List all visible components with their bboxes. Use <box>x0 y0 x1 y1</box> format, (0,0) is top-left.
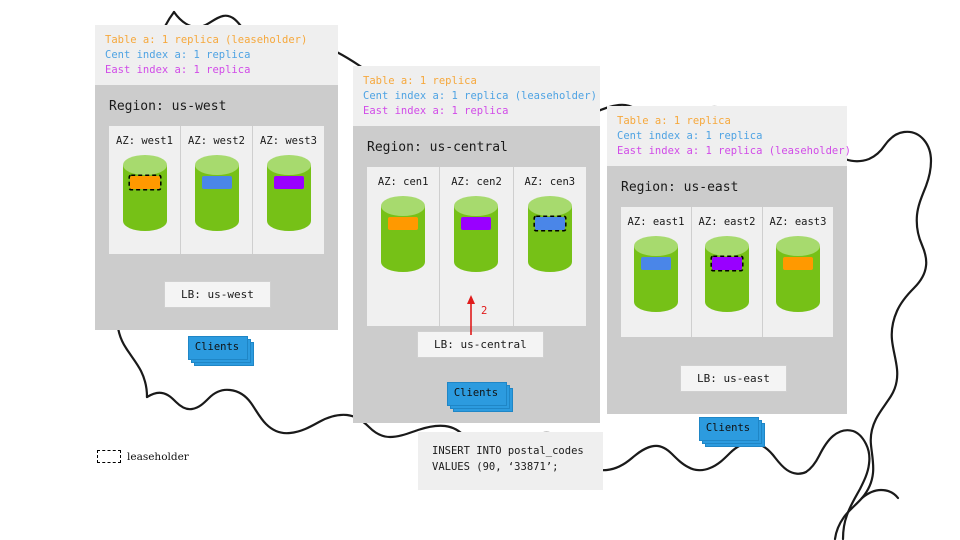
clients-label-us-west: Clients <box>188 336 246 358</box>
legend-leaseholder: leaseholder <box>97 450 189 463</box>
az-cell-east1[interactable]: AZ: east1 <box>621 207 692 337</box>
database-cylinder-east1[interactable] <box>633 235 679 313</box>
database-cylinder-east2[interactable] <box>704 235 750 313</box>
region-title-us-central: Region: us-central <box>353 126 600 167</box>
region-body-us-west: Region: us-west AZ: west1 AZ: west2 <box>95 85 338 330</box>
replica-line-cent: Cent index a: 1 replica (leaseholder) <box>363 89 590 104</box>
az-strip-us-west: AZ: west1 AZ: west2 <box>109 126 324 254</box>
az-cell-cen1[interactable]: AZ: cen1 <box>367 167 440 326</box>
region-title-us-west: Region: us-west <box>95 85 338 126</box>
az-label-east3: AZ: east3 <box>770 216 827 228</box>
clients-label-us-east: Clients <box>699 417 757 439</box>
replica-summary-us-east: Table a: 1 replica Cent index a: 1 repli… <box>607 106 847 166</box>
replica-line-table: Table a: 1 replica <box>617 114 837 129</box>
replica-line-cent: Cent index a: 1 replica <box>105 48 328 63</box>
load-balancer-us-central[interactable]: LB: us-central <box>417 331 544 358</box>
clients-us-west[interactable]: Clients <box>188 336 246 358</box>
legend-label: leaseholder <box>127 451 189 463</box>
region-panel-us-east: Table a: 1 replica Cent index a: 1 repli… <box>607 106 847 414</box>
database-cylinder-cen1[interactable] <box>380 195 426 273</box>
replica-summary-us-west: Table a: 1 replica (leaseholder) Cent in… <box>95 25 338 85</box>
az-label-cen1: AZ: cen1 <box>378 176 429 188</box>
az-cell-west1[interactable]: AZ: west1 <box>109 126 181 254</box>
region-body-us-central: Region: us-central AZ: cen1 AZ: cen2 <box>353 126 600 423</box>
sql-statement-box: INSERT INTO postal_codes VALUES (90, ‘33… <box>418 432 603 490</box>
az-cell-west3[interactable]: AZ: west3 <box>253 126 324 254</box>
database-cylinder-west1[interactable] <box>122 154 168 232</box>
az-label-cen2: AZ: cen2 <box>451 176 502 188</box>
clients-label-us-central: Clients <box>447 382 505 404</box>
replica-line-table: Table a: 1 replica (leaseholder) <box>105 33 328 48</box>
database-cylinder-cen2[interactable] <box>453 195 499 273</box>
az-cell-cen2[interactable]: AZ: cen2 <box>440 167 513 326</box>
az-cell-cen3[interactable]: AZ: cen3 <box>514 167 586 326</box>
replica-line-east: East index a: 1 replica <box>105 63 328 78</box>
az-cell-east2[interactable]: AZ: east2 <box>692 207 763 337</box>
replica-line-cent: Cent index a: 1 replica <box>617 129 837 144</box>
az-label-west1: AZ: west1 <box>116 135 173 147</box>
replica-line-east: East index a: 1 replica (leaseholder) <box>617 144 837 159</box>
diagram-canvas: Table a: 1 replica (leaseholder) Cent in… <box>0 0 960 540</box>
region-title-us-east: Region: us-east <box>607 166 847 207</box>
replica-line-table: Table a: 1 replica <box>363 74 590 89</box>
az-cell-west2[interactable]: AZ: west2 <box>181 126 253 254</box>
az-label-west2: AZ: west2 <box>188 135 245 147</box>
az-label-east1: AZ: east1 <box>628 216 685 228</box>
dashed-rect-icon <box>97 450 121 463</box>
region-panel-us-west: Table a: 1 replica (leaseholder) Cent in… <box>95 25 338 330</box>
clients-us-east[interactable]: Clients <box>699 417 757 439</box>
region-panel-us-central: Table a: 1 replica Cent index a: 1 repli… <box>353 66 600 423</box>
az-label-east2: AZ: east2 <box>699 216 756 228</box>
database-cylinder-west2[interactable] <box>194 154 240 232</box>
replica-summary-us-central: Table a: 1 replica Cent index a: 1 repli… <box>353 66 600 126</box>
az-label-west3: AZ: west3 <box>260 135 317 147</box>
load-balancer-us-east[interactable]: LB: us-east <box>680 365 787 392</box>
az-strip-us-central: AZ: cen1 AZ: cen2 <box>367 167 586 326</box>
database-cylinder-cen3[interactable] <box>527 195 573 273</box>
database-cylinder-west3[interactable] <box>266 154 312 232</box>
region-body-us-east: Region: us-east AZ: east1 AZ: east2 <box>607 166 847 414</box>
load-balancer-us-west[interactable]: LB: us-west <box>164 281 271 308</box>
az-cell-east3[interactable]: AZ: east3 <box>763 207 833 337</box>
database-cylinder-east3[interactable] <box>775 235 821 313</box>
az-label-cen3: AZ: cen3 <box>525 176 576 188</box>
replica-line-east: East index a: 1 replica <box>363 104 590 119</box>
az-strip-us-east: AZ: east1 AZ: east2 <box>621 207 833 337</box>
clients-us-central[interactable]: Clients <box>447 382 505 404</box>
